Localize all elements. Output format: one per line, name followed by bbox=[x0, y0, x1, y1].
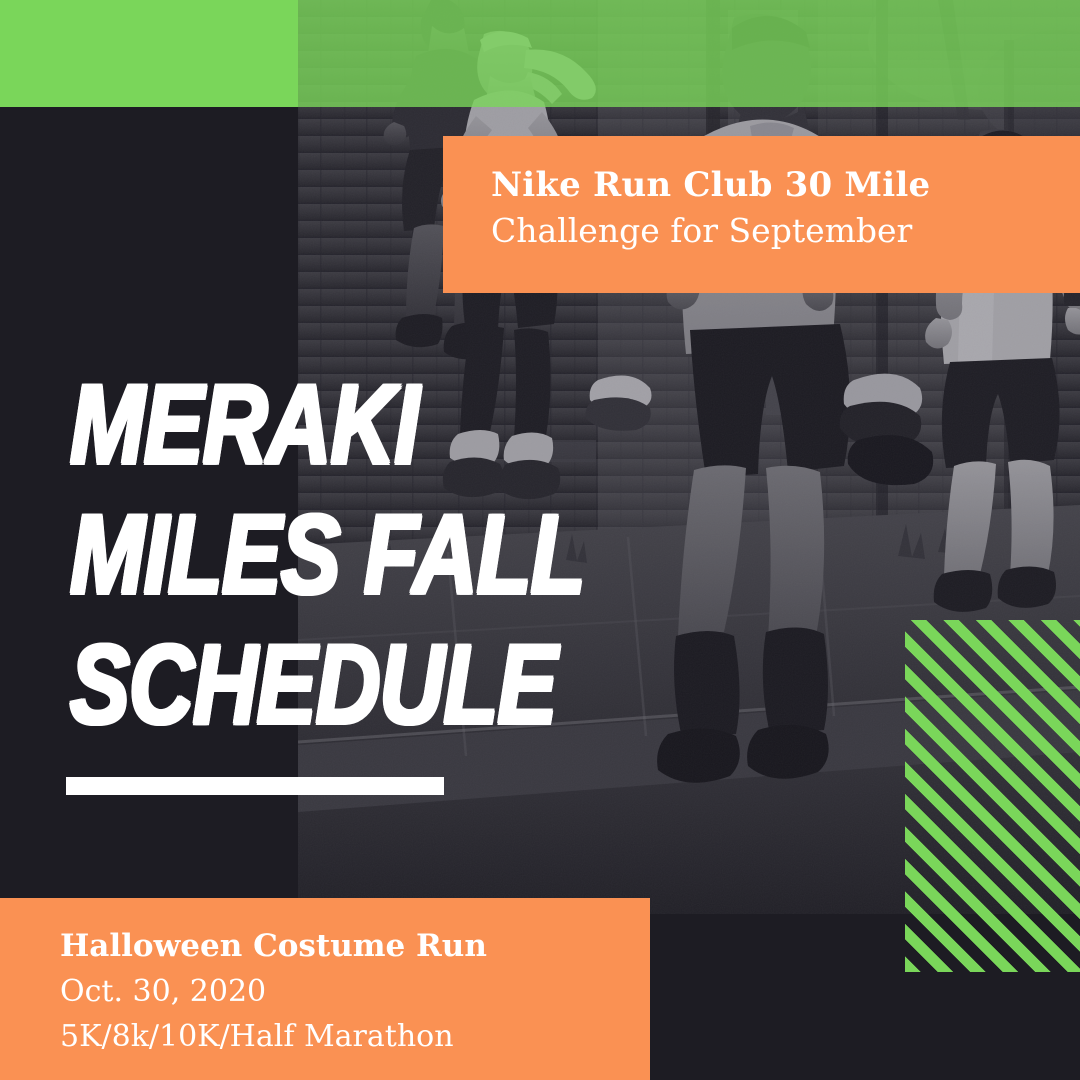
top-green-photo-tint bbox=[298, 0, 1080, 107]
bottom-banner-line2: Oct. 30, 2020 bbox=[60, 969, 650, 1014]
title-line-1: MERAKI bbox=[70, 360, 486, 490]
top-banner-line1: Nike Run Club 30 Mile bbox=[491, 162, 1080, 208]
bottom-orange-banner: Halloween Costume Run Oct. 30, 2020 5K/8… bbox=[0, 898, 650, 1080]
top-orange-banner: Nike Run Club 30 Mile Challenge for Sept… bbox=[443, 136, 1080, 293]
top-banner-line2: Challenge for September bbox=[491, 208, 1080, 254]
poster-canvas: Nike Run Club 30 Mile Challenge for Sept… bbox=[0, 0, 1080, 1080]
title-line-2: MILES FALL bbox=[70, 490, 486, 620]
page-title: MERAKI MILES FALL SCHEDULE bbox=[70, 360, 590, 750]
bottom-banner-line3: 5K/8k/10K/Half Marathon bbox=[60, 1014, 650, 1059]
green-stripe-block bbox=[905, 620, 1080, 972]
top-green-block bbox=[0, 0, 298, 107]
bottom-banner-line1: Halloween Costume Run bbox=[60, 924, 650, 969]
title-underline-rule bbox=[66, 777, 444, 795]
title-line-3: SCHEDULE bbox=[70, 620, 486, 750]
